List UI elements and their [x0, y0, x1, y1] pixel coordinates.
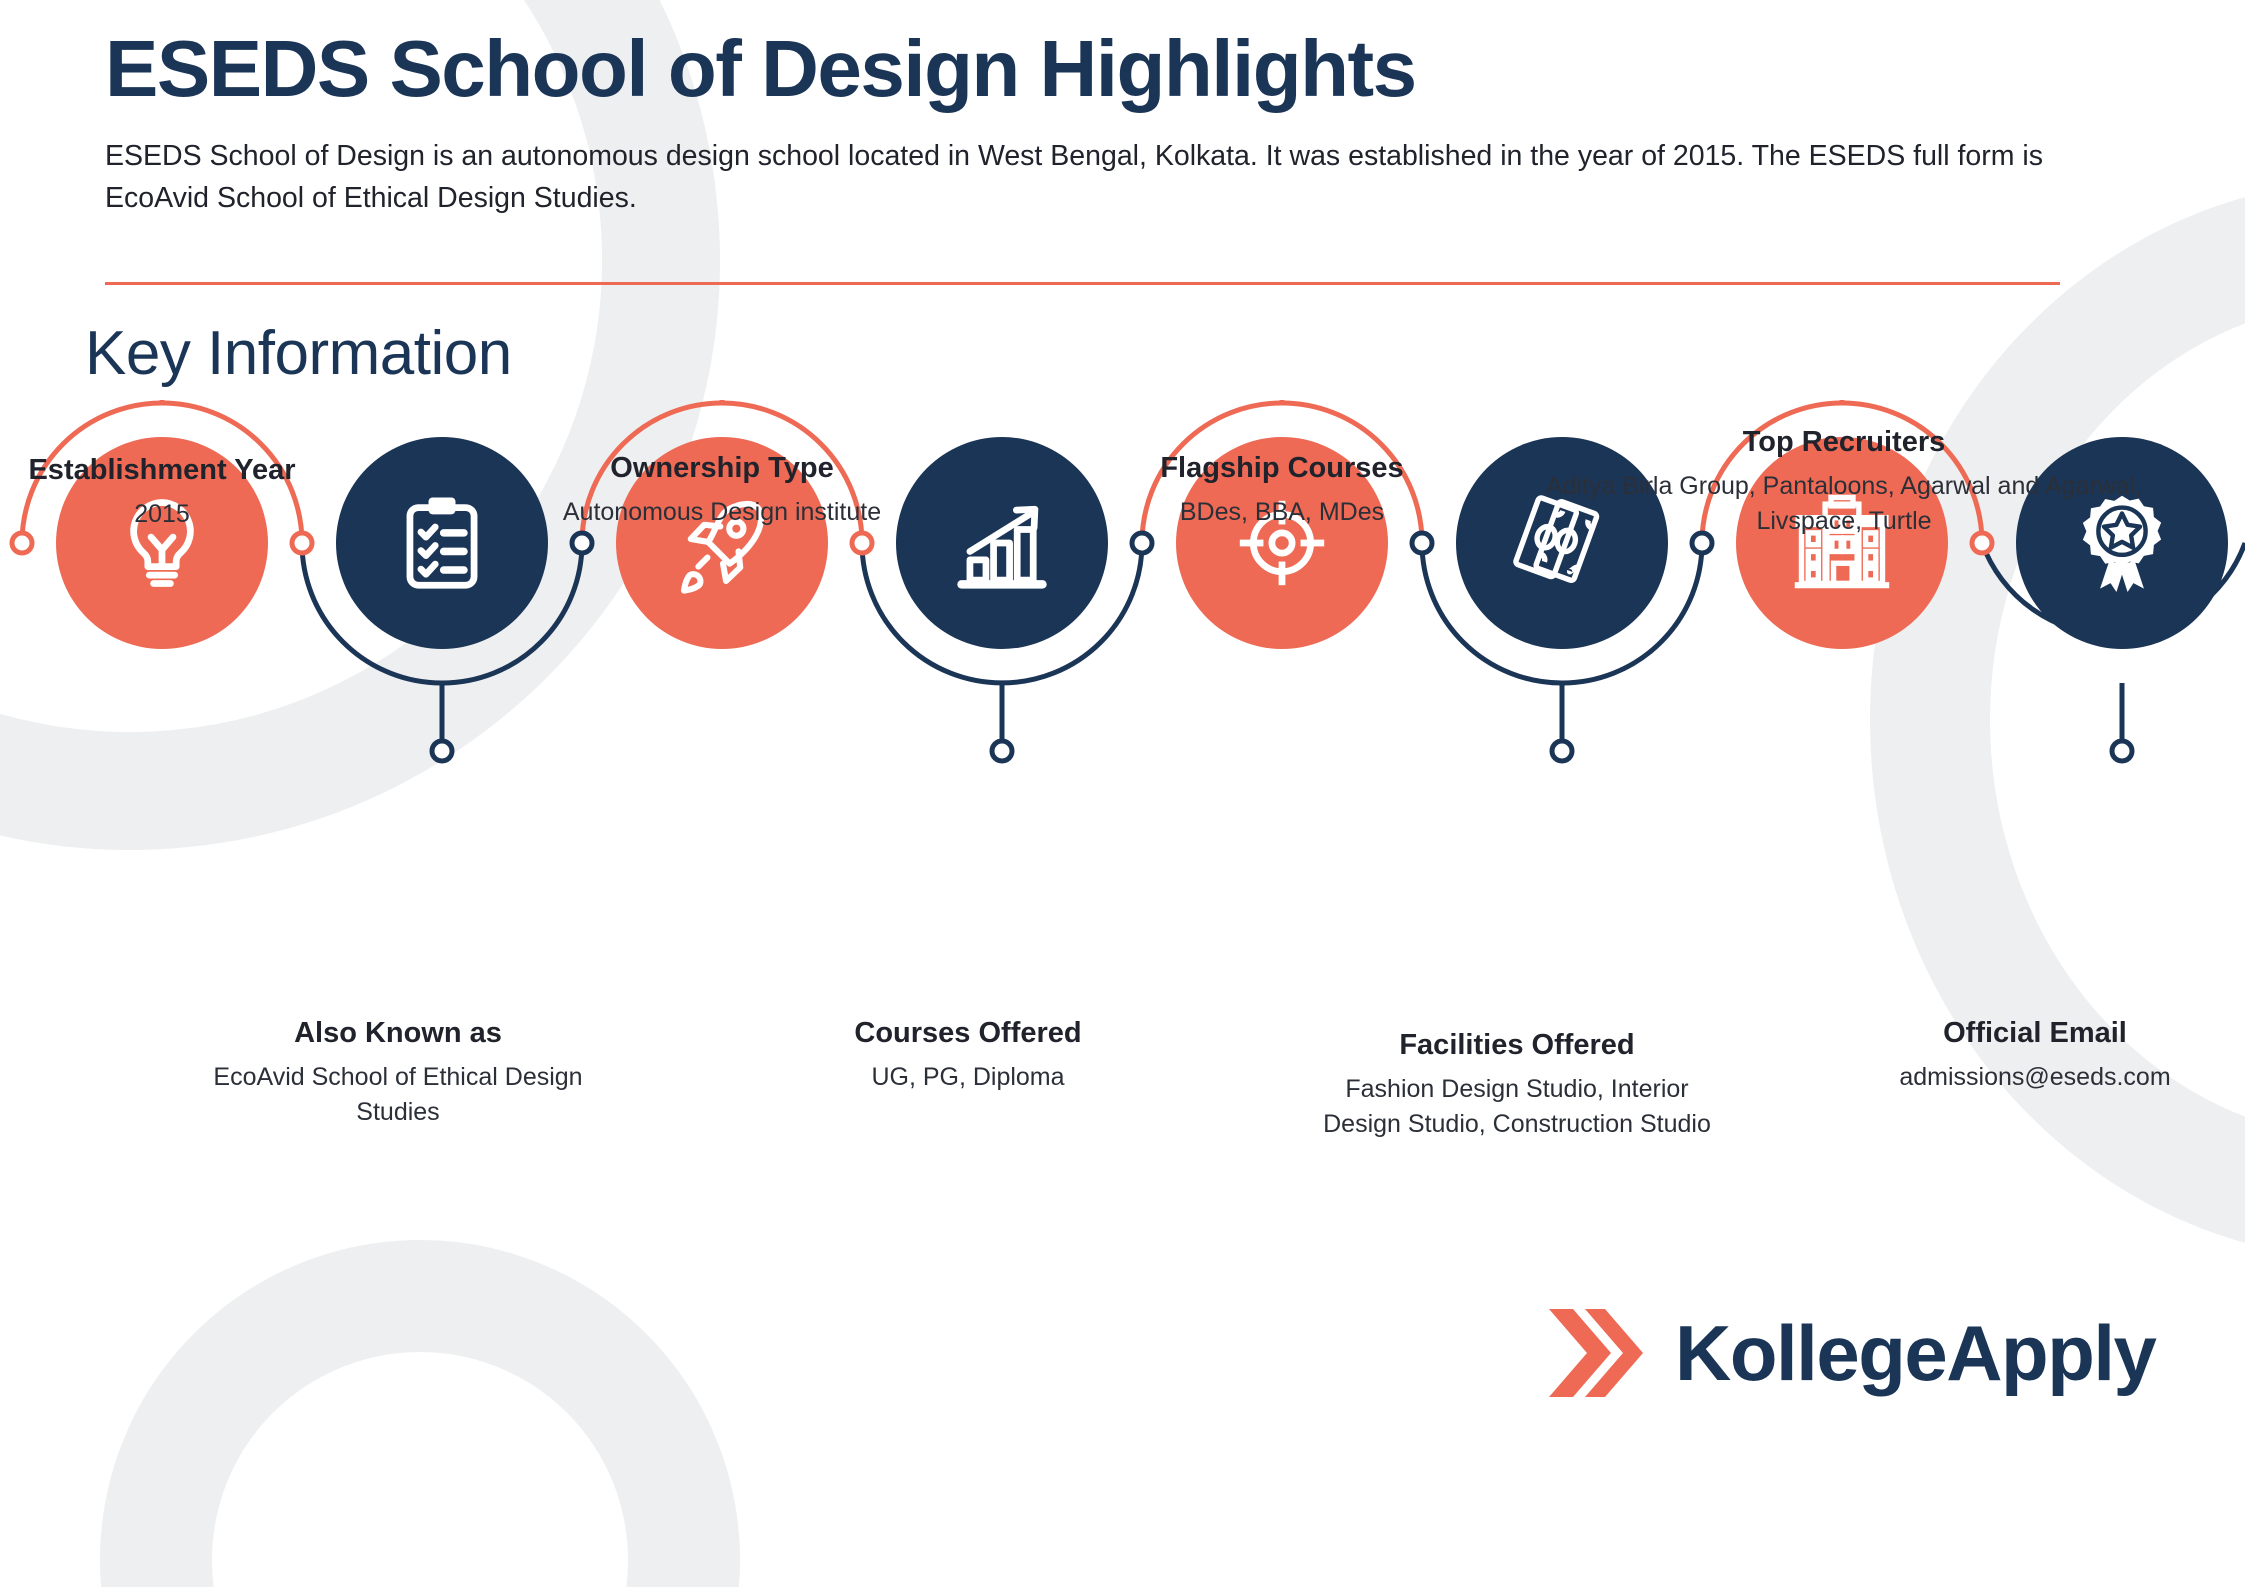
double-chevron-icon: [1545, 1305, 1653, 1401]
label-top-recruiters: Top Recruiters Aditya Birla Group, Panta…: [1528, 424, 2160, 538]
watermark-ring-bottom: [100, 1240, 740, 1587]
label-title: Also Known as: [202, 1015, 594, 1051]
infographic-page: ESEDS School of Design Highlights ESEDS …: [0, 0, 2245, 1587]
section-title: Key Information: [85, 318, 512, 389]
growth-chart-icon: [948, 489, 1056, 597]
header: ESEDS School of Design Highlights ESEDS …: [105, 22, 2165, 219]
label-ownership-type: Ownership Type Autonomous Design institu…: [500, 450, 944, 530]
label-value: Fashion Design Studio, Interior Design S…: [1306, 1072, 1728, 1141]
label-title: Flagship Courses: [1072, 450, 1492, 486]
label-title: Top Recruiters: [1528, 424, 2160, 460]
header-divider: [105, 282, 2060, 285]
label-value: Autonomous Design institute: [500, 495, 944, 530]
label-value: UG, PG, Diploma: [766, 1060, 1170, 1095]
label-value: BDes, BBA, MDes: [1072, 495, 1492, 530]
intro-paragraph: ESEDS School of Design is an autonomous …: [105, 136, 2135, 219]
label-title: Official Email: [1830, 1015, 2240, 1051]
label-flagship-courses: Flagship Courses BDes, BBA, MDes: [1072, 450, 1492, 530]
label-establishment-year: Establishment Year 2015: [0, 452, 324, 532]
label-courses-offered: Courses Offered UG, PG, Diploma: [766, 1015, 1170, 1095]
logo-text: KollegeApply: [1675, 1314, 2155, 1392]
clipboard-checklist-icon: [388, 489, 496, 597]
label-facilities-offered: Facilities Offered Fashion Design Studio…: [1306, 1027, 1728, 1141]
label-title: Establishment Year: [0, 452, 324, 488]
label-value: admissions@eseds.com: [1830, 1060, 2240, 1095]
label-value: Aditya Birla Group, Pantaloons, Agarwal …: [1528, 469, 2160, 538]
page-title: ESEDS School of Design Highlights: [105, 22, 2165, 116]
label-official-email: Official Email admissions@eseds.com: [1830, 1015, 2240, 1095]
label-title: Ownership Type: [500, 450, 944, 486]
label-title: Courses Offered: [766, 1015, 1170, 1051]
label-value: EcoAvid School of Ethical Design Studies: [202, 1060, 594, 1129]
label-value: 2015: [0, 497, 324, 532]
label-title: Facilities Offered: [1306, 1027, 1728, 1063]
kollegeapply-logo[interactable]: KollegeApply: [1545, 1305, 2155, 1401]
label-also-known-as: Also Known as EcoAvid School of Ethical …: [202, 1015, 594, 1129]
